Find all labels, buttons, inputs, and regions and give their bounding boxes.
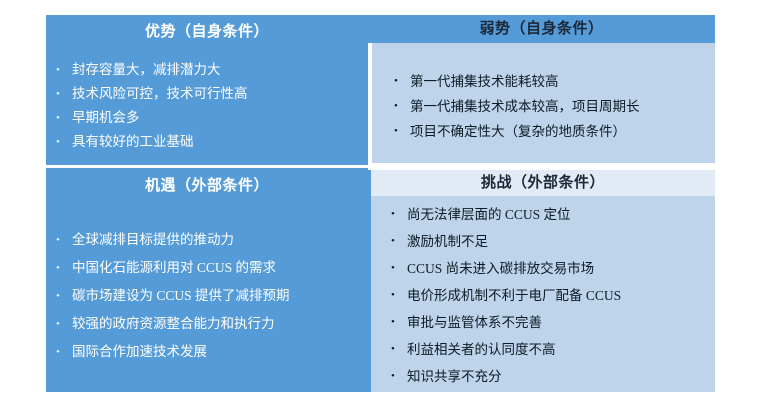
bullet-icon: • [391,255,395,282]
list-item-label: 技术风险可控，技术可行性高 [72,86,248,101]
bullet-icon: • [391,282,395,309]
quadrant-weaknesses-title: 弱势（自身条件） [368,15,715,43]
list-item-label: 第一代捕集技术成本较高，项目周期长 [410,99,640,114]
quadrant-opportunities-list: • 全球减排目标提供的推动力 • 中国化石能源利用对 CCUS 的需求 • 碳市… [46,226,368,366]
bullet-icon: • [391,363,395,390]
bullet-icon: • [391,309,395,336]
list-item: • 技术风险可控，技术可行性高 [46,82,368,106]
list-item: • 中国化石能源利用对 CCUS 的需求 [46,254,368,282]
list-item: • 全球减排目标提供的推动力 [46,226,368,254]
quadrant-strengths-title: 优势（自身条件） [46,18,368,46]
quadrant-opportunities: 机遇（外部条件） • 全球减排目标提供的推动力 • 中国化石能源利用对 CCUS… [46,168,368,392]
quadrant-weaknesses-list: • 第一代捕集技术能耗较高 • 第一代捕集技术成本较高，项目周期长 • 项目不确… [372,69,715,144]
bullet-icon: • [56,58,60,82]
list-item-label: 中国化石能源利用对 CCUS 的需求 [72,260,276,275]
list-item: • 第一代捕集技术能耗较高 [372,69,715,94]
bullet-icon: • [394,119,398,144]
bullet-icon: • [56,310,60,338]
list-item-label: 审批与监管体系不完善 [407,315,542,330]
list-item: • 激励机制不足 [371,228,715,255]
list-item-label: 较强的政府资源整合能力和执行力 [72,316,275,331]
quadrant-opportunities-title: 机遇（外部条件） [46,172,368,200]
bullet-icon: • [391,201,395,228]
list-item: • 具有较好的工业基础 [46,130,368,154]
bullet-icon: • [56,338,60,366]
quadrant-strengths-list: • 封存容量大，减排潜力大 • 技术风险可控，技术可行性高 • 早期机会多 • … [46,58,368,154]
quadrant-weaknesses-body: • 第一代捕集技术能耗较高 • 第一代捕集技术成本较高，项目周期长 • 项目不确… [372,43,715,163]
list-item-label: 激励机制不足 [407,234,488,249]
list-item-label: 电价形成机制不利于电厂配备 CCUS [407,288,621,303]
quadrant-threats-title: 挑战（外部条件） [371,170,715,196]
bullet-icon: • [394,94,398,119]
list-item: • 碳市场建设为 CCUS 提供了减排预期 [46,282,368,310]
bullet-icon: • [391,336,395,363]
list-item-label: 知识共享不充分 [407,369,502,384]
list-item: • 项目不确定性大（复杂的地质条件） [372,119,715,144]
bullet-icon: • [56,106,60,130]
quadrant-strengths: 优势（自身条件） • 封存容量大，减排潜力大 • 技术风险可控，技术可行性高 •… [46,15,368,165]
list-item: • 审批与监管体系不完善 [371,309,715,336]
bullet-icon: • [394,69,398,94]
list-item-label: 利益相关者的认同度不高 [407,342,556,357]
quadrant-threats-body: • 尚无法律层面的 CCUS 定位 • 激励机制不足 • CCUS 尚未进入碳排… [371,196,715,392]
bullet-icon: • [391,228,395,255]
quadrant-threats: 挑战（外部条件） • 尚无法律层面的 CCUS 定位 • 激励机制不足 • CC… [366,170,715,392]
list-item-label: 第一代捕集技术能耗较高 [410,74,559,89]
list-item-label: 早期机会多 [72,110,140,125]
quadrant-threats-list: • 尚无法律层面的 CCUS 定位 • 激励机制不足 • CCUS 尚未进入碳排… [371,201,715,390]
list-item-label: 尚无法律层面的 CCUS 定位 [407,207,571,222]
list-item: • 利益相关者的认同度不高 [371,336,715,363]
list-item: • 较强的政府资源整合能力和执行力 [46,310,368,338]
quadrant-threats-header: 挑战（外部条件） [371,170,715,196]
bullet-icon: • [56,130,60,154]
list-item: • 封存容量大，减排潜力大 [46,58,368,82]
list-item-label: CCUS 尚未进入碳排放交易市场 [407,261,594,276]
list-item: • 早期机会多 [46,106,368,130]
list-item: • CCUS 尚未进入碳排放交易市场 [371,255,715,282]
quadrant-weaknesses-header: 弱势（自身条件） [368,15,715,43]
swot-matrix: 优势（自身条件） • 封存容量大，减排潜力大 • 技术风险可控，技术可行性高 •… [0,0,765,407]
list-item-label: 具有较好的工业基础 [72,134,194,149]
list-item-label: 全球减排目标提供的推动力 [72,232,234,247]
list-item: • 尚无法律层面的 CCUS 定位 [371,201,715,228]
bullet-icon: • [56,226,60,254]
list-item-label: 碳市场建设为 CCUS 提供了减排预期 [72,288,290,303]
quadrant-weaknesses: 弱势（自身条件） • 第一代捕集技术能耗较高 • 第一代捕集技术成本较高，项目周… [368,15,715,163]
list-item-label: 项目不确定性大（复杂的地质条件） [410,124,626,139]
list-item-label: 封存容量大，减排潜力大 [72,62,221,77]
list-item-label: 国际合作加速技术发展 [72,344,207,359]
list-item: • 国际合作加速技术发展 [46,338,368,366]
bullet-icon: • [56,82,60,106]
list-item: • 知识共享不充分 [371,363,715,390]
bullet-icon: • [56,282,60,310]
list-item: • 第一代捕集技术成本较高，项目周期长 [372,94,715,119]
bullet-icon: • [56,254,60,282]
list-item: • 电价形成机制不利于电厂配备 CCUS [371,282,715,309]
